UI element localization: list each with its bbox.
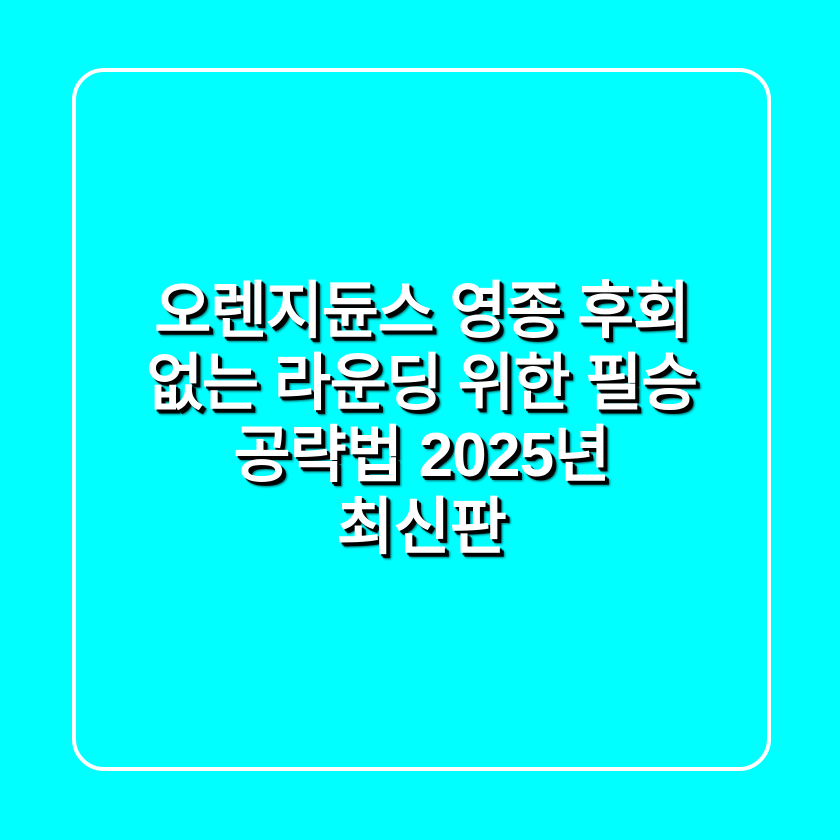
headline-line-1: 오렌지듄스 영종 후회 bbox=[90, 276, 753, 348]
headline-line-2: 없는 라운딩 위한 필승 bbox=[90, 348, 753, 420]
headline-text-block: 오렌지듄스 영종 후회 없는 라운딩 위한 필승 공략법 2025년 최신판 bbox=[72, 68, 771, 771]
headline-line-4: 최신판 bbox=[90, 492, 753, 564]
headline-line-3: 공략법 2025년 bbox=[90, 420, 753, 492]
thumbnail-canvas: 오렌지듄스 영종 후회 없는 라운딩 위한 필승 공략법 2025년 최신판 bbox=[0, 0, 840, 840]
